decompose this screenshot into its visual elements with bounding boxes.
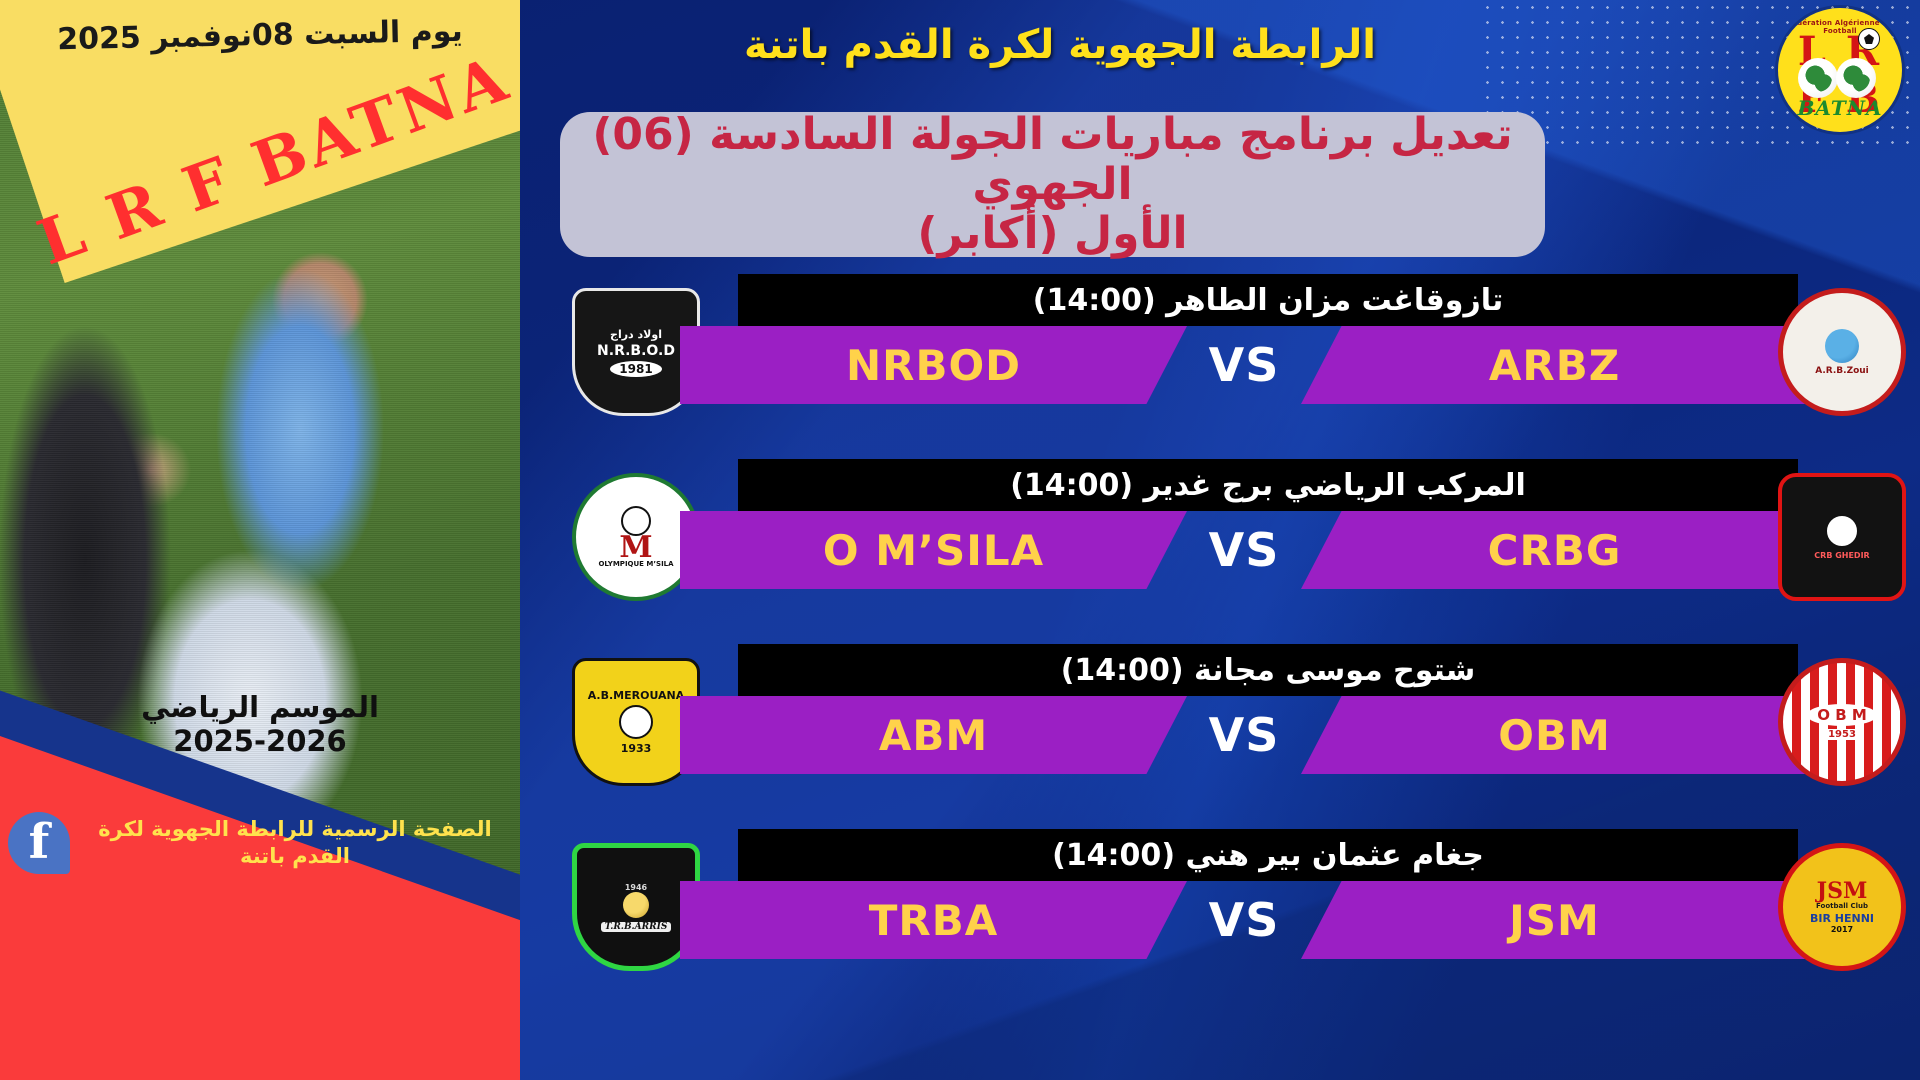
crest-year: 1953 <box>1822 729 1862 740</box>
match-row[interactable]: اولاد دراج N.R.B.O.D 1981 تازوقاغت مزان … <box>520 268 1920 453</box>
football-icon <box>1858 28 1880 50</box>
left-panel: يوم السبت 08نوفمبر 2025 L R F BATNA المو… <box>0 0 520 1080</box>
vs-label: VS <box>1169 696 1319 774</box>
crest-city: BIR HENNI <box>1810 912 1874 925</box>
season-label: الموسم الرياضي 2025-2026 <box>0 690 520 758</box>
crest-subtitle: Football Club <box>1816 902 1868 910</box>
crest-abbr: A.B.MEROUANA <box>588 689 685 702</box>
crest-year: 1946 <box>625 883 647 892</box>
crest-year: 1981 <box>610 361 661 377</box>
home-team-chip[interactable]: O M’SILA <box>680 511 1187 589</box>
match-row[interactable]: A.B.MEROUANA 1933 شتوح موسى مجانة (14:00… <box>520 638 1920 823</box>
vs-label: VS <box>1169 881 1319 959</box>
title-banner-text: تعديل برنامج مباريات الجولة السادسة (06)… <box>586 110 1519 259</box>
title-banner: تعديل برنامج مباريات الجولة السادسة (06)… <box>560 112 1545 257</box>
lrfb-logo: Fédération Algérienne de Football L R F … <box>1778 8 1902 132</box>
football-icon <box>619 705 653 739</box>
league-title: الرابطة الجهوية لكرة القدم باتنة <box>600 22 1520 68</box>
match-row[interactable]: 1946 T.R.B.ARRIS جغام عثمان بير هني (14:… <box>520 823 1920 1008</box>
teams-row: TRBA VS JSM <box>680 881 1808 959</box>
logo-city-text: BATNA <box>1778 96 1902 120</box>
away-team-chip[interactable]: ARBZ <box>1301 326 1808 404</box>
title-line-1: تعديل برنامج مباريات الجولة السادسة (06)… <box>586 110 1519 209</box>
teams-row: NRBOD VS ARBZ <box>680 326 1808 404</box>
crest-year: 2017 <box>1831 925 1853 934</box>
arbz-crest: A.R.B.Zoui <box>1778 288 1906 416</box>
crest-abbr: JSM <box>1817 880 1868 902</box>
poster-root: يوم السبت 08نوفمبر 2025 L R F BATNA المو… <box>0 0 1920 1080</box>
home-team-chip[interactable]: NRBOD <box>680 326 1187 404</box>
away-team-chip[interactable]: OBM <box>1301 696 1808 774</box>
home-team-chip[interactable]: ABM <box>680 696 1187 774</box>
title-line-2: الأول (أكابر) <box>586 209 1519 259</box>
globe-icon <box>1825 329 1859 363</box>
crest-arabic-name: اولاد دراج <box>610 328 662 341</box>
facebook-icon[interactable]: f <box>8 812 70 874</box>
venue-text: المركب الرياضي برج غدير (14:00) <box>1010 468 1526 503</box>
venue-text: جغام عثمان بير هني (14:00) <box>1052 838 1484 873</box>
crest-abbr: N.R.B.O.D <box>597 343 675 359</box>
crbg-crest: CRB GHEDIR <box>1778 473 1906 601</box>
crest-abbr: T.R.B.ARRIS <box>601 922 672 932</box>
jsm-crest: JSM Football Club BIR HENNI 2017 <box>1778 843 1906 971</box>
facebook-caption: الصفحة الرسمية للرابطة الجهوية لكرة القد… <box>84 816 506 870</box>
facebook-glyph: f <box>8 818 70 866</box>
football-icon <box>623 892 649 918</box>
crest-abbr: CRB GHEDIR <box>1814 551 1869 560</box>
teams-row: ABM VS OBM <box>680 696 1808 774</box>
obm-crest: O B M 1953 <box>1778 658 1906 786</box>
venue-bar: المركب الرياضي برج غدير (14:00) <box>738 459 1798 511</box>
venue-bar: شتوح موسى مجانة (14:00) <box>738 644 1798 696</box>
venue-text: شتوح موسى مجانة (14:00) <box>1061 653 1476 688</box>
facebook-row[interactable]: الصفحة الرسمية للرابطة الجهوية لكرة القد… <box>0 788 520 898</box>
teams-row: O M’SILA VS CRBG <box>680 511 1808 589</box>
crest-monogram: M <box>619 536 652 560</box>
season-line-1: الموسم الرياضي <box>0 690 520 724</box>
home-team-chip[interactable]: TRBA <box>680 881 1187 959</box>
away-team-chip[interactable]: CRBG <box>1301 511 1808 589</box>
crest-abbr: O B M <box>1807 704 1877 726</box>
vs-label: VS <box>1169 326 1319 404</box>
venue-bar: تازوقاغت مزان الطاهر (14:00) <box>738 274 1798 326</box>
crest-year: 1933 <box>621 742 652 755</box>
away-team-chip[interactable]: JSM <box>1301 881 1808 959</box>
match-row[interactable]: M OLYMPIQUE M’SILA المركب الرياضي برج غد… <box>520 453 1920 638</box>
season-line-2: 2025-2026 <box>0 724 520 758</box>
venue-bar: جغام عثمان بير هني (14:00) <box>738 829 1798 881</box>
football-icon <box>1825 514 1859 548</box>
globe-icon <box>1836 58 1876 98</box>
globe-icon <box>1798 58 1838 98</box>
vs-label: VS <box>1169 511 1319 589</box>
crest-abbr: A.R.B.Zoui <box>1815 366 1869 376</box>
match-list: اولاد دراج N.R.B.O.D 1981 تازوقاغت مزان … <box>520 268 1920 1078</box>
crest-abbr: OLYMPIQUE M’SILA <box>598 560 673 568</box>
venue-text: تازوقاغت مزان الطاهر (14:00) <box>1033 283 1504 318</box>
